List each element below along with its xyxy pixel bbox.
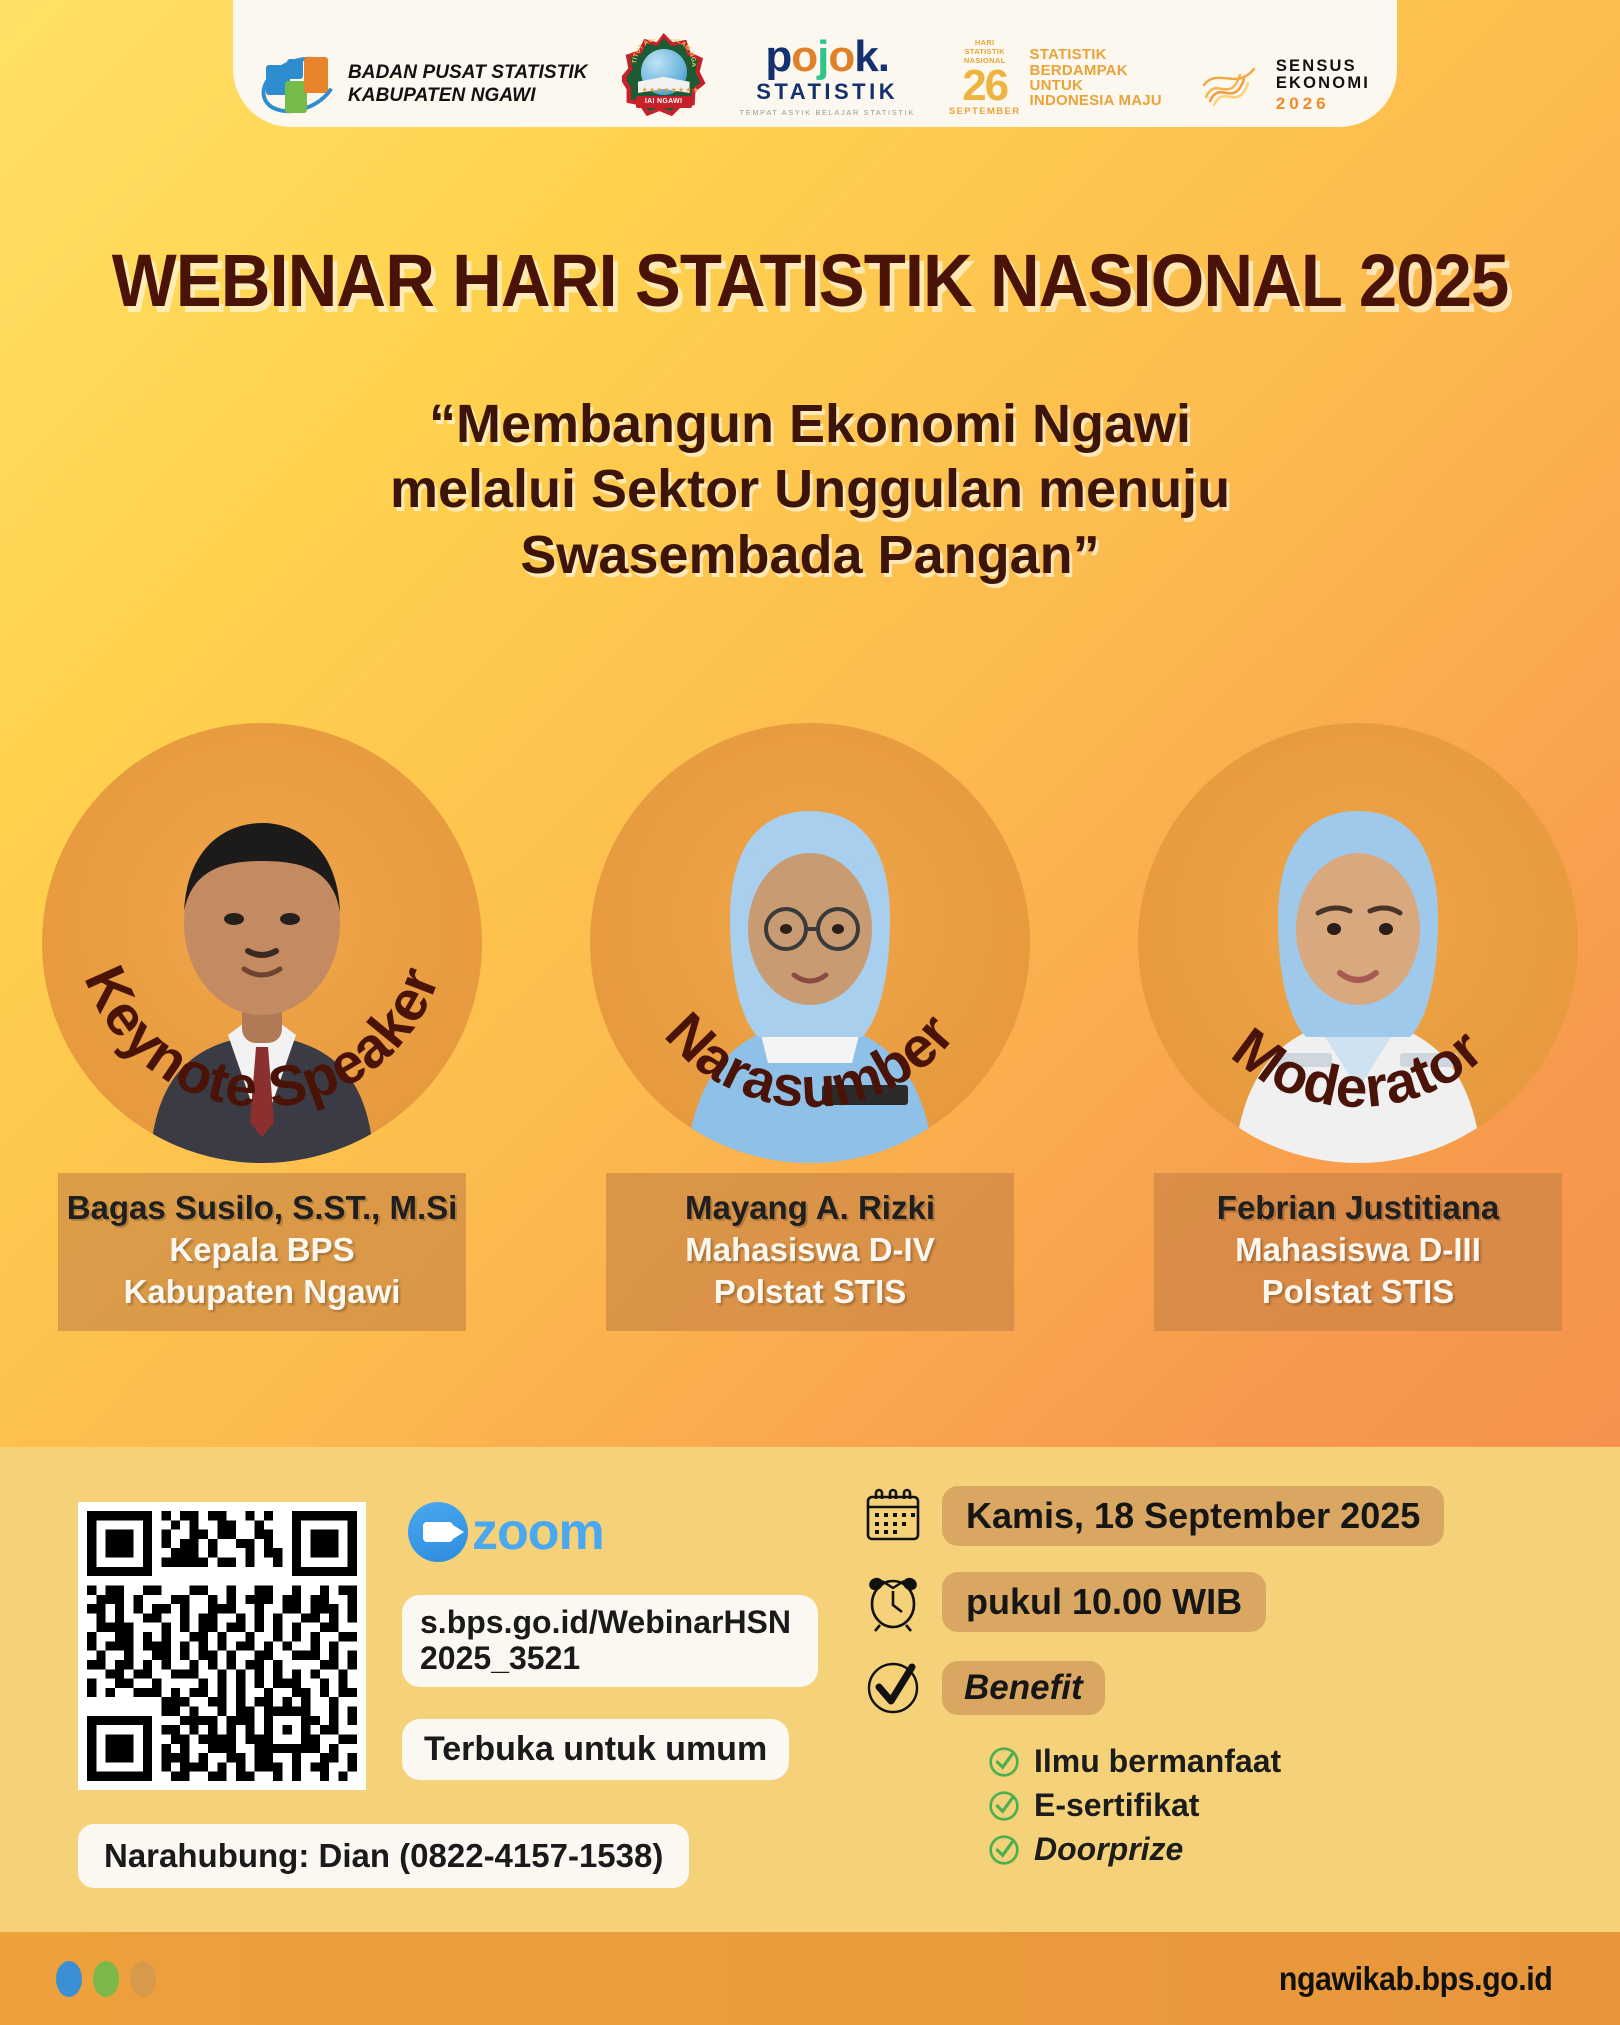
speaker-affil-1: Mahasiswa D-III — [1162, 1230, 1554, 1270]
footer-bar: ngawikab.bps.go.id — [0, 1932, 1620, 2025]
zoom-wordmark: zoom — [472, 1506, 604, 1558]
pojok-sub: STATISTIK — [740, 79, 915, 105]
speaker-name: Mayang A. Rizki — [614, 1189, 1006, 1228]
speaker-photo-moderator: Moderator — [1138, 723, 1578, 1163]
speaker-affil-2: Kabupaten Ngawi — [66, 1272, 458, 1312]
check-circle-icon — [988, 1746, 1020, 1778]
iai-stars: ★★★★★★★★ — [642, 86, 686, 94]
pojok-statistik-logo: pojok. STATISTIK TEMPAT ASYIK BELAJAR ST… — [740, 37, 915, 117]
event-time-row: pukul 10.00 WIB — [862, 1571, 1444, 1633]
footer-dots — [56, 1961, 156, 1997]
speaker-namebox-narasumber: Mayang A. Rizki Mahasiswa D-IV Polstat S… — [606, 1173, 1014, 1331]
speaker-affil-2: Polstat STIS — [1162, 1272, 1554, 1312]
calendar-icon — [862, 1485, 924, 1547]
benefit-header-row: Benefit — [862, 1657, 1444, 1719]
qr-code[interactable] — [78, 1502, 366, 1790]
check-circle-icon — [988, 1834, 1020, 1866]
footer-website: ngawikab.bps.go.id — [1279, 1960, 1552, 1998]
speaker-name: Febrian Justitiana — [1162, 1189, 1554, 1228]
benefit-item: Doorprize — [988, 1831, 1444, 1868]
check-circle-icon — [988, 1790, 1020, 1822]
benefit-list: Ilmu bermanfaat E-sertifikat Doorprize — [988, 1743, 1444, 1868]
open-notice-pill: Terbuka untuk umum — [402, 1719, 789, 1780]
poster: BADAN PUSAT STATISTIK KABUPATEN NGAWI IN… — [0, 0, 1620, 2025]
speaker-card-keynote: Keynote Speaker Bagas Susilo, S.ST., M.S… — [42, 723, 482, 1331]
bps-line2: KABUPATEN NGAWI — [348, 84, 588, 107]
hsn-mark: HARI STATISTIK NASIONAL 26 SEPTEMBER — [949, 39, 1021, 117]
event-date: Kamis, 18 September 2025 — [942, 1486, 1444, 1546]
speaker-namebox-moderator: Febrian Justitiana Mahasiswa D-III Polst… — [1154, 1173, 1562, 1331]
benefit-item: Ilmu bermanfaat — [988, 1743, 1444, 1780]
zoom-camera-icon — [408, 1502, 468, 1562]
bps-line1: BADAN PUSAT STATISTIK — [348, 61, 588, 84]
registration-panel: Narahubung: Dian (0822-4157-1538) zoom s… — [0, 1447, 1620, 1932]
iai-ngawi-logo-icon: INSTITUT AGAMA ISLAM NGAWI ★★★★★★★★ IAI … — [622, 33, 706, 117]
hsn-logo: HARI STATISTIK NASIONAL 26 SEPTEMBER STA… — [949, 39, 1162, 117]
portrait-woman-hijab-icon — [590, 723, 1030, 1163]
sensus-text: SENSUS EKONOMI 2026 — [1276, 58, 1370, 115]
hsn-cap2: STATISTIK — [965, 47, 1005, 56]
speaker-card-narasumber: Narasumber Mayang A. Rizki Mahasiswa D-I… — [590, 723, 1030, 1331]
hsn-cap1: HARI — [975, 38, 995, 47]
speaker-namebox-keynote: Bagas Susilo, S.ST., M.Si Kepala BPS Kab… — [58, 1173, 466, 1331]
portrait-woman-uniform-icon — [1138, 723, 1578, 1163]
subtitle-line-2: melalui Sektor Unggulan menuju — [0, 457, 1620, 522]
event-date-row: Kamis, 18 September 2025 — [862, 1485, 1444, 1547]
speaker-card-moderator: Moderator Febrian Justitiana Mahasiswa D… — [1138, 723, 1578, 1331]
subtitle-line-3: Swasembada Pangan” — [0, 523, 1620, 588]
speaker-affil-1: Kepala BPS — [66, 1230, 458, 1270]
registration-link-pill[interactable]: s.bps.go.id/WebinarHSN 2025_3521 — [402, 1595, 818, 1687]
benefit-item: E-sertifikat — [988, 1787, 1444, 1824]
event-info: Kamis, 18 September 2025 pukul 10.00 WIB — [862, 1485, 1444, 1875]
pojok-wordmark: pojok. — [740, 37, 915, 77]
zoom-logo: zoom — [408, 1502, 604, 1562]
benefit-text: Doorprize — [1034, 1831, 1183, 1868]
benefit-text: E-sertifikat — [1034, 1787, 1199, 1824]
pojok-tagline: TEMPAT ASYIK BELAJAR STATISTIK — [740, 108, 915, 117]
qr-code-image — [87, 1511, 357, 1781]
speaker-photo-keynote: Keynote Speaker — [42, 723, 482, 1163]
hsn-month: SEPTEMBER — [949, 106, 1021, 117]
event-time: pukul 10.00 WIB — [942, 1572, 1266, 1632]
speaker-name: Bagas Susilo, S.ST., M.Si — [66, 1189, 458, 1228]
page-title: WEBINAR HARI STATISTIK NASIONAL 2025 — [57, 238, 1564, 323]
hsn-slogan: STATISTIK BERDAMPAK UNTUK INDONESIA MAJU — [1030, 47, 1162, 108]
page-subtitle: “Membangun Ekonomi Ngawi melalui Sektor … — [0, 392, 1620, 588]
sensus-ekonomi-logo: SENSUS EKONOMI 2026 — [1196, 55, 1370, 117]
speaker-affil-1: Mahasiswa D-IV — [614, 1230, 1006, 1270]
speaker-affil-2: Polstat STIS — [614, 1272, 1006, 1312]
contact-pill: Narahubung: Dian (0822-4157-1538) — [78, 1824, 689, 1888]
bps-logo-icon — [260, 51, 338, 117]
subtitle-line-1: “Membangun Ekonomi Ngawi — [0, 392, 1620, 457]
speaker-photo-narasumber: Narasumber — [590, 723, 1030, 1163]
checkmark-circle-icon — [862, 1657, 924, 1719]
benefit-label: Benefit — [942, 1661, 1105, 1715]
bps-logo-text: BADAN PUSAT STATISTIK KABUPATEN NGAWI — [348, 61, 588, 107]
alarm-clock-icon — [862, 1571, 924, 1633]
header-logo-bar: BADAN PUSAT STATISTIK KABUPATEN NGAWI IN… — [233, 0, 1397, 127]
bps-logo: BADAN PUSAT STATISTIK KABUPATEN NGAWI — [260, 51, 588, 117]
hsn-number: 26 — [949, 66, 1021, 106]
portrait-man-icon — [42, 723, 482, 1163]
sensus-ribbon-icon — [1196, 55, 1266, 117]
benefit-text: Ilmu bermanfaat — [1034, 1743, 1281, 1780]
speakers-row: Keynote Speaker Bagas Susilo, S.ST., M.S… — [0, 723, 1620, 1331]
registration-link-line1: s.bps.go.id/WebinarHSN — [420, 1605, 800, 1641]
iai-band: IAI NGAWI — [636, 96, 692, 108]
registration-link-line2: 2025_3521 — [420, 1641, 800, 1677]
